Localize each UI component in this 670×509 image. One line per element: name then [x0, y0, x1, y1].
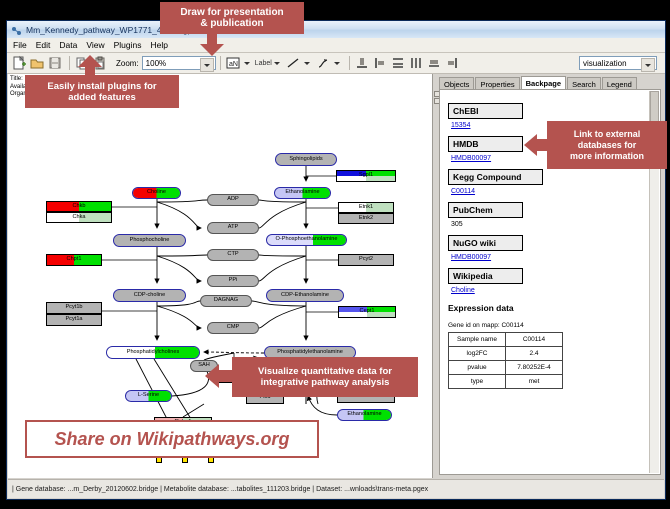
node-adp[interactable]: ADP — [207, 194, 259, 206]
menu-item-plugins[interactable]: Plugins — [114, 40, 142, 50]
node-label: CTP — [227, 252, 238, 258]
node-label: Pcyt1b — [65, 305, 82, 311]
menu-item-file[interactable]: File — [13, 40, 27, 50]
align-left-icon[interactable] — [372, 55, 388, 71]
node-pcyt1a[interactable]: Pcyt1a — [46, 314, 102, 326]
node-label: CDP-Ethanolamine — [281, 293, 329, 299]
menu-item-edit[interactable]: Edit — [36, 40, 51, 50]
expression-table: Sample name C00114 log2FC 2.4 pvalue 7.8… — [448, 332, 563, 389]
node-o-phosphoethanolamine[interactable]: O-Phosphoethanolamine — [266, 234, 347, 246]
toolbar-separator — [220, 56, 221, 70]
node-label: Phosphatidylcholines — [127, 350, 180, 356]
node-label: Sphingolipids — [289, 157, 322, 163]
node-label: Sgpl1 — [359, 173, 373, 179]
save-icon[interactable] — [47, 55, 63, 71]
table-cell-value: 2.4 — [506, 347, 563, 361]
panel-tabs[interactable]: Objects Properties Backpage Search Legen… — [439, 76, 662, 90]
table-cell-key: pvalue — [449, 361, 506, 375]
node-label: Chkb — [72, 204, 85, 210]
table-cell-key: type — [449, 375, 506, 389]
chevron-down-icon[interactable] — [200, 58, 214, 72]
table-row: type met — [449, 375, 563, 389]
align-right-icon[interactable] — [444, 55, 460, 71]
toolbar[interactable]: Zoom: 100% aN Label — [7, 53, 665, 74]
node-sphingolipids[interactable]: Sphingolipids — [275, 153, 337, 166]
node-cdp-choline[interactable]: CDP-choline — [113, 289, 186, 302]
menu-item-data[interactable]: Data — [59, 40, 77, 50]
datanode-dropdown-icon[interactable] — [243, 55, 252, 71]
toolbar-separator — [349, 56, 350, 70]
node-pcyt1b[interactable]: Pcyt1b — [46, 302, 102, 314]
db-header-pubchem: PubChem — [448, 202, 523, 218]
node-label: ATP — [228, 225, 238, 231]
chevron-down-icon[interactable] — [641, 58, 655, 72]
db-header-kegg-compound: Kegg Compound — [448, 169, 543, 185]
db-header-hmdb: HMDB — [448, 136, 523, 152]
db-header-wikipedia: Wikipedia — [448, 268, 523, 284]
node-phosphatidylcholines[interactable]: Phosphatidylcholines — [106, 346, 200, 359]
node-label: Ethanolamine — [285, 190, 319, 196]
menu-bar[interactable]: File Edit Data View Plugins Help — [7, 38, 665, 53]
annotation-arrow-left-links — [524, 132, 550, 158]
db-value-pubchem: 305 — [451, 221, 648, 228]
align-bottom-icon[interactable] — [354, 55, 370, 71]
db-header-nugo-wiki: NuGO wiki — [448, 235, 523, 251]
node-ethanolamine-top[interactable]: Ethanolamine — [274, 187, 331, 199]
node-label: DAGNAG — [214, 298, 238, 304]
annotation-arrow-down-top — [199, 34, 225, 54]
annotation-visualize-data: Visualize quantitative data for integrat… — [232, 357, 418, 397]
annotation-line-1: Easily install plugins for — [47, 81, 156, 92]
screenshot-root: Mm_Kennedy_pathway_WP1771_45176.gpml Fil… — [0, 0, 670, 509]
open-folder-icon[interactable] — [29, 55, 45, 71]
new-file-icon[interactable] — [11, 55, 27, 71]
db-link-wikipedia[interactable]: Choline — [451, 287, 648, 294]
node-label: Phosphocholine — [130, 238, 170, 244]
node-pcyt2[interactable]: Pcyt2 — [338, 254, 394, 266]
annotation-line-1: Visualize quantitative data for — [258, 366, 392, 377]
annotation-line-1: Draw for presentation — [180, 7, 283, 18]
annotation-line-2: databases for — [578, 140, 637, 151]
node-label: L-Serine — [138, 393, 159, 399]
table-row: Sample name C00114 — [449, 333, 563, 347]
status-text: | Gene database: ...m_Derby_20120602.bri… — [8, 486, 428, 493]
title-bar: Mm_Kennedy_pathway_WP1771_45176.gpml — [7, 21, 665, 39]
annotation-external-links: Link to external databases for more info… — [547, 121, 667, 169]
node-choline-top[interactable]: Choline — [132, 187, 181, 199]
node-label: Ethanolamine — [347, 412, 381, 418]
annotation-share-wikipathways: Share on Wikipathways.org — [25, 420, 319, 458]
node-ethanolamine-bottom[interactable]: Ethanolamine — [337, 409, 392, 421]
pathway-canvas[interactable]: Title: Availa Organ — [8, 74, 433, 478]
label-dropdown-icon[interactable] — [273, 55, 282, 71]
annotation-line-2: added features — [68, 92, 136, 103]
node-label: ADP — [227, 197, 239, 203]
db-header-chebi: ChEBI — [448, 103, 523, 119]
table-cell-key: Sample name — [449, 333, 506, 347]
db-link-kegg-compound[interactable]: C00114 — [451, 188, 648, 195]
annotation-line-2: & publication — [200, 18, 263, 29]
node-label: O-Phosphoethanolamine — [276, 237, 338, 243]
node-label: Choline — [147, 190, 166, 196]
node-label: PPi — [229, 278, 238, 284]
table-row: log2FC 2.4 — [449, 347, 563, 361]
toolbar-separator — [69, 56, 70, 70]
node-l-serine-left[interactable]: L-Serine — [125, 390, 172, 402]
node-label: Etnk1 — [359, 205, 373, 211]
table-cell-key: log2FC — [449, 347, 506, 361]
db-link-nugo-wiki[interactable]: HMDB00097 — [451, 254, 648, 261]
node-label: Chpt1 — [67, 257, 82, 263]
annotation-install-plugins: Easily install plugins for added feature… — [25, 75, 179, 108]
node-dagnag[interactable]: DAGNAG — [200, 295, 252, 307]
node-label: Phosphatidylethanolamine — [277, 350, 343, 356]
menu-item-view[interactable]: View — [86, 40, 104, 50]
zoom-combobox[interactable]: 100% — [142, 56, 216, 70]
svg-text:aN: aN — [229, 61, 238, 68]
node-label: CMP — [227, 325, 239, 331]
menu-item-help[interactable]: Help — [151, 40, 168, 50]
node-label: Etnk2 — [359, 216, 373, 222]
tab-backpage[interactable]: Backpage — [521, 76, 566, 90]
node-cmp[interactable]: CMP — [207, 322, 259, 334]
annotation-arrow-up-plugins — [77, 55, 103, 77]
annotation-line-1: Link to external — [574, 129, 641, 140]
expression-data-title: Expression data — [448, 303, 648, 313]
visualization-combobox[interactable]: visualization — [579, 56, 657, 70]
node-label: CDP-choline — [134, 293, 165, 299]
node-chkb[interactable]: Chkb — [46, 201, 112, 212]
table-cell-value: 7.80252E-4 — [506, 361, 563, 375]
node-cdp-ethanolamine[interactable]: CDP-Ethanolamine — [266, 289, 344, 302]
align-center-icon[interactable] — [426, 55, 442, 71]
status-bar: | Gene database: ...m_Derby_20120602.bri… — [8, 479, 664, 498]
label-tool-label[interactable]: Label — [255, 60, 272, 67]
line-dropdown-icon[interactable] — [303, 55, 312, 71]
node-label: Pcyt1a — [65, 317, 82, 323]
node-atp[interactable]: ATP — [207, 222, 259, 234]
distribute-horizontal-icon[interactable] — [408, 55, 424, 71]
visualization-value: visualization — [583, 59, 627, 68]
node-label: Cept1 — [360, 309, 375, 315]
annotation-arrow-left-visualize — [205, 363, 235, 389]
node-ctp[interactable]: CTP — [207, 249, 259, 261]
node-label: Chka — [72, 215, 85, 221]
gene-id-on-mapp: Gene id on mapp: C00114 — [448, 322, 648, 329]
node-label: Pcyt2 — [359, 257, 373, 263]
table-cell-value: C00114 — [506, 333, 563, 347]
distribute-vertical-icon[interactable] — [390, 55, 406, 71]
node-etnk1[interactable]: Etnk1 — [338, 202, 394, 213]
node-chpt1[interactable]: Chpt1 — [46, 254, 102, 266]
line-icon[interactable] — [285, 55, 301, 71]
node-ppi[interactable]: PPi — [207, 275, 259, 287]
pathway-app-icon — [11, 24, 22, 35]
node-cept1[interactable]: Cept1 — [338, 306, 396, 318]
node-etnk2[interactable]: Etnk2 — [338, 213, 394, 224]
annotation-line-3: more information — [570, 151, 644, 162]
arrow-shape-icon[interactable] — [315, 55, 331, 71]
annotation-line-2: integrative pathway analysis — [261, 377, 390, 388]
arrow-dropdown-icon[interactable] — [333, 55, 342, 71]
zoom-label: Zoom: — [116, 59, 139, 68]
zoom-value: 100% — [146, 59, 166, 68]
node-sgpl1[interactable]: Sgpl1 — [336, 170, 396, 182]
node-phosphocholine[interactable]: Phosphocholine — [113, 234, 186, 247]
annotation-share-text: Share on Wikipathways.org — [55, 429, 290, 450]
table-row: pvalue 7.80252E-4 — [449, 361, 563, 375]
table-cell-value: met — [506, 375, 563, 389]
node-chka[interactable]: Chka — [46, 212, 112, 223]
annotation-draw-presentation: Draw for presentation & publication — [160, 2, 304, 34]
datanode-icon[interactable]: aN — [225, 55, 241, 71]
